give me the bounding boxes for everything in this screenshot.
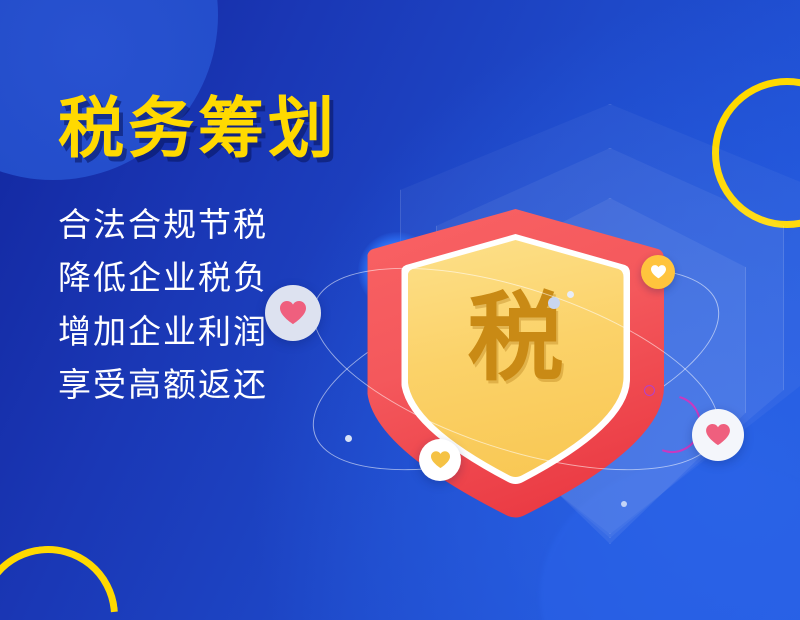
heart-badge-bottom-right — [692, 409, 744, 461]
heart-icon — [280, 301, 306, 325]
dot-decoration-4 — [621, 501, 627, 507]
heart-badge-left — [265, 285, 321, 341]
tax-planning-banner: 税务筹划 合法合规节税 降低企业税负 增加企业利润 享受高额返还 税 — [0, 0, 800, 620]
heart-icon — [431, 451, 450, 469]
heart-icon — [706, 424, 730, 446]
page-title: 税务筹划 — [58, 92, 398, 166]
dot-decoration-3 — [345, 435, 352, 442]
shield-illustration: 税 — [293, 209, 738, 529]
yellow-arc-bottom-left-decoration — [0, 539, 125, 620]
dot-decoration-1 — [548, 297, 560, 309]
heart-icon — [651, 265, 666, 279]
dot-decoration-2 — [567, 291, 574, 298]
magenta-ring-decoration — [644, 385, 655, 396]
heart-badge-bottom-left — [419, 439, 461, 481]
heart-badge-top-right — [641, 255, 675, 289]
